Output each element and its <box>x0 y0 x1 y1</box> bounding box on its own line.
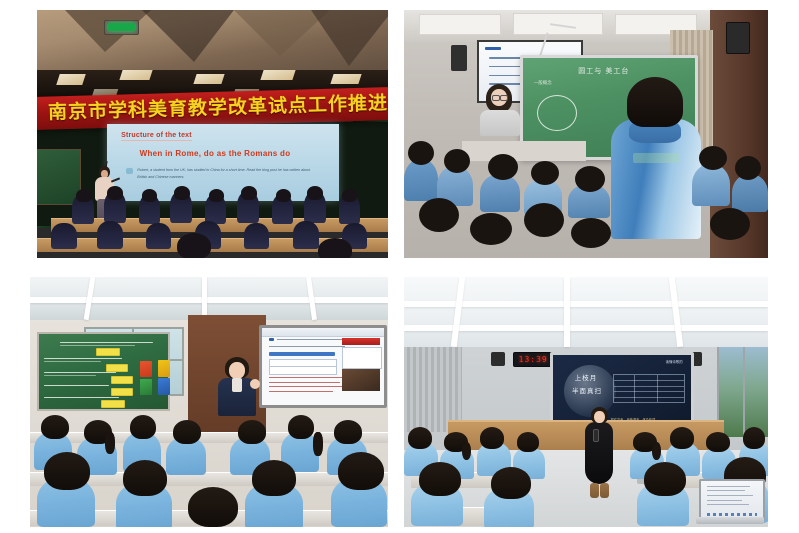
ponytail <box>652 442 661 460</box>
chalkboard-line <box>44 397 119 398</box>
whiteboard-side-panel <box>342 347 382 369</box>
classroom-ceiling <box>30 277 388 320</box>
student-head <box>627 77 683 127</box>
teacher-boot <box>590 483 599 498</box>
whiteboard-text-line <box>269 382 340 383</box>
book-cover <box>140 379 152 395</box>
circle-diagram <box>537 95 577 131</box>
photo-top-right[interactable]: 圆工与 美工台 一般概念 <box>404 10 768 258</box>
photo-top-left[interactable]: 南京市学科美育教学改革试点工作推进 Structure of the text … <box>37 10 388 258</box>
eyeglasses-icon <box>500 95 508 101</box>
student-head <box>238 420 266 444</box>
laptop-text-line <box>707 500 742 501</box>
foreground-head <box>318 238 352 258</box>
laptop-text-line <box>707 495 753 496</box>
student-head <box>142 189 157 202</box>
window-frame <box>743 347 745 437</box>
student-head <box>444 149 470 173</box>
foreground-head <box>252 460 296 496</box>
foreground-head <box>177 233 211 258</box>
ceiling-light <box>260 70 295 80</box>
clock-time-display: 13:39 <box>519 356 548 364</box>
student-head <box>334 420 362 444</box>
student-head <box>488 154 518 180</box>
teacher-figure <box>216 357 260 415</box>
teacher-face <box>229 362 245 379</box>
teacher-shirt <box>232 378 242 392</box>
wall-speaker <box>451 45 467 71</box>
ceiling-beam <box>451 277 465 347</box>
ceiling-beam <box>669 277 683 347</box>
digital-wall-clock: 13:39 <box>513 352 553 367</box>
whiteboard-text-line <box>269 391 332 392</box>
slide-table <box>613 374 684 404</box>
laptop-text-line <box>707 486 750 487</box>
whiteboard-table-row <box>269 366 337 375</box>
photo-collage: 南京市学科美育教学改革试点工作推进 Structure of the text … <box>0 0 799 533</box>
classroom-window <box>717 347 768 437</box>
student-head <box>173 420 201 444</box>
note-card <box>101 400 125 408</box>
chalkboard-title-line <box>60 342 153 343</box>
note-card <box>111 388 133 396</box>
chalkboard-line <box>44 361 101 362</box>
chalkboard-title-line <box>60 345 135 346</box>
teacher-figure <box>480 84 520 134</box>
ceiling-facet <box>142 10 234 62</box>
handheld-microphone <box>111 178 120 183</box>
ceiling-light <box>330 74 361 84</box>
laptop-text-line <box>707 490 745 491</box>
student-head <box>209 189 224 202</box>
site-logo <box>269 338 274 341</box>
table-row-divider <box>614 391 683 392</box>
student-figure <box>97 221 123 249</box>
book-cover <box>140 361 152 377</box>
ceiling-beam <box>564 277 570 347</box>
student-figure <box>146 223 171 249</box>
handheld-microphone <box>593 429 599 442</box>
student-figure <box>404 159 438 201</box>
blackboard-note: 一般概念 <box>534 80 552 86</box>
whiteboard-text-line <box>269 377 342 378</box>
classroom-ceiling <box>404 277 768 347</box>
exit-sign <box>104 20 139 35</box>
front-desk <box>462 141 586 161</box>
ponytail <box>462 442 471 460</box>
ceiling-beam <box>30 297 388 303</box>
slide-title-line-2: 半面真扫 <box>572 385 602 395</box>
foreground-head <box>188 487 238 527</box>
student-laptop[interactable] <box>699 479 761 525</box>
slide-title: Structure of the text <box>121 132 192 141</box>
ceiling-panel <box>419 14 501 35</box>
student-head <box>41 415 69 439</box>
student-head <box>307 186 323 200</box>
table-row-divider <box>614 380 683 381</box>
exit-sign-icon <box>108 23 135 31</box>
foreground-head <box>644 462 686 496</box>
eyeglasses-icon <box>492 95 500 101</box>
slide-bullet-icon <box>126 168 133 174</box>
student-head <box>408 427 432 449</box>
whiteboard-header-bar <box>269 352 335 356</box>
teacher-dress <box>585 422 613 484</box>
student-figure <box>51 223 77 249</box>
laptop-taskbar <box>707 513 757 516</box>
student-head <box>706 432 730 452</box>
slide-body-text: Robert, a student from the UK, has studi… <box>137 167 318 180</box>
laptop-base <box>696 517 764 524</box>
whiteboard-text-line <box>269 386 344 387</box>
table-row-divider <box>614 397 683 398</box>
student-head <box>288 415 314 439</box>
school-logo <box>633 153 679 163</box>
table-col-divider <box>634 375 635 403</box>
student-figure <box>692 164 730 206</box>
ceiling-facet <box>311 10 388 66</box>
ceiling-light <box>120 70 153 80</box>
note-card <box>111 376 133 384</box>
chalkboard-line <box>44 358 121 359</box>
foreground-head <box>419 462 461 496</box>
teacher-hand <box>250 379 260 389</box>
ponytail <box>313 432 323 456</box>
whiteboard-text-line <box>269 346 344 347</box>
student-figure <box>244 223 269 249</box>
photo-bottom-left[interactable] <box>30 277 388 527</box>
note-card <box>96 348 120 356</box>
foreground-head <box>470 213 512 245</box>
laptop-text-line <box>707 504 749 505</box>
student-head <box>480 427 504 449</box>
whiteboard-photo <box>342 369 380 391</box>
student-head <box>174 186 190 200</box>
wall-speaker <box>491 352 505 366</box>
slide-title-line-1: 上枝月 <box>575 372 598 382</box>
foreground-head <box>710 208 750 240</box>
foreground-head <box>419 198 459 232</box>
student-head <box>743 427 765 449</box>
green-chalkboard <box>37 332 170 411</box>
chalkboard-line <box>44 375 96 376</box>
laptop-screen <box>699 479 765 521</box>
student-head <box>342 189 357 202</box>
foreground-head <box>338 452 384 490</box>
table-row-divider <box>614 386 683 387</box>
teacher-torso <box>480 110 520 136</box>
teacher-figure <box>582 407 616 501</box>
photo-bottom-right[interactable]: 13:39 上枝月 半面真扫 读懂诗歌的 抓住意象、品味语言、体会情感 <box>404 277 768 527</box>
foreground-head <box>44 452 90 490</box>
student-head <box>130 415 156 439</box>
standing-student <box>611 77 701 258</box>
foreground-head <box>491 467 531 499</box>
student-head <box>517 432 539 452</box>
blackboard-title: 圆工与 美工台 <box>578 66 629 76</box>
display-logo <box>485 47 501 50</box>
student-head <box>670 427 694 449</box>
slide-heading: When in Rome, do as the Romans do <box>140 149 291 158</box>
slide-objective-text: 读懂诗歌的 <box>666 359 683 366</box>
student-head <box>241 186 257 200</box>
student-head <box>107 186 123 200</box>
note-card <box>106 364 128 372</box>
book-cover <box>158 378 170 395</box>
ceiling-light <box>193 74 224 84</box>
student-figure <box>293 221 319 249</box>
foreground-head <box>123 460 167 496</box>
projection-screen: Structure of the text When in Rome, do a… <box>107 124 339 201</box>
event-banner-text: 南京市学科美育教学改革试点工作推进 <box>37 94 388 123</box>
chalkboard-line <box>44 385 108 386</box>
ceiling-beam <box>202 277 207 320</box>
interactive-whiteboard[interactable] <box>259 325 387 409</box>
ponytail <box>105 432 115 454</box>
whiteboard-red-banner <box>342 338 380 346</box>
whiteboard-toolbar <box>262 328 384 338</box>
teacher-boot <box>600 483 609 498</box>
student-head <box>408 141 434 165</box>
book-cover <box>158 360 170 377</box>
whiteboard-text-line <box>277 339 343 340</box>
wall-speaker <box>726 22 750 54</box>
ceiling-light <box>56 74 86 85</box>
table-col-divider <box>657 375 658 403</box>
student-head <box>76 189 92 202</box>
student-head <box>276 189 291 202</box>
